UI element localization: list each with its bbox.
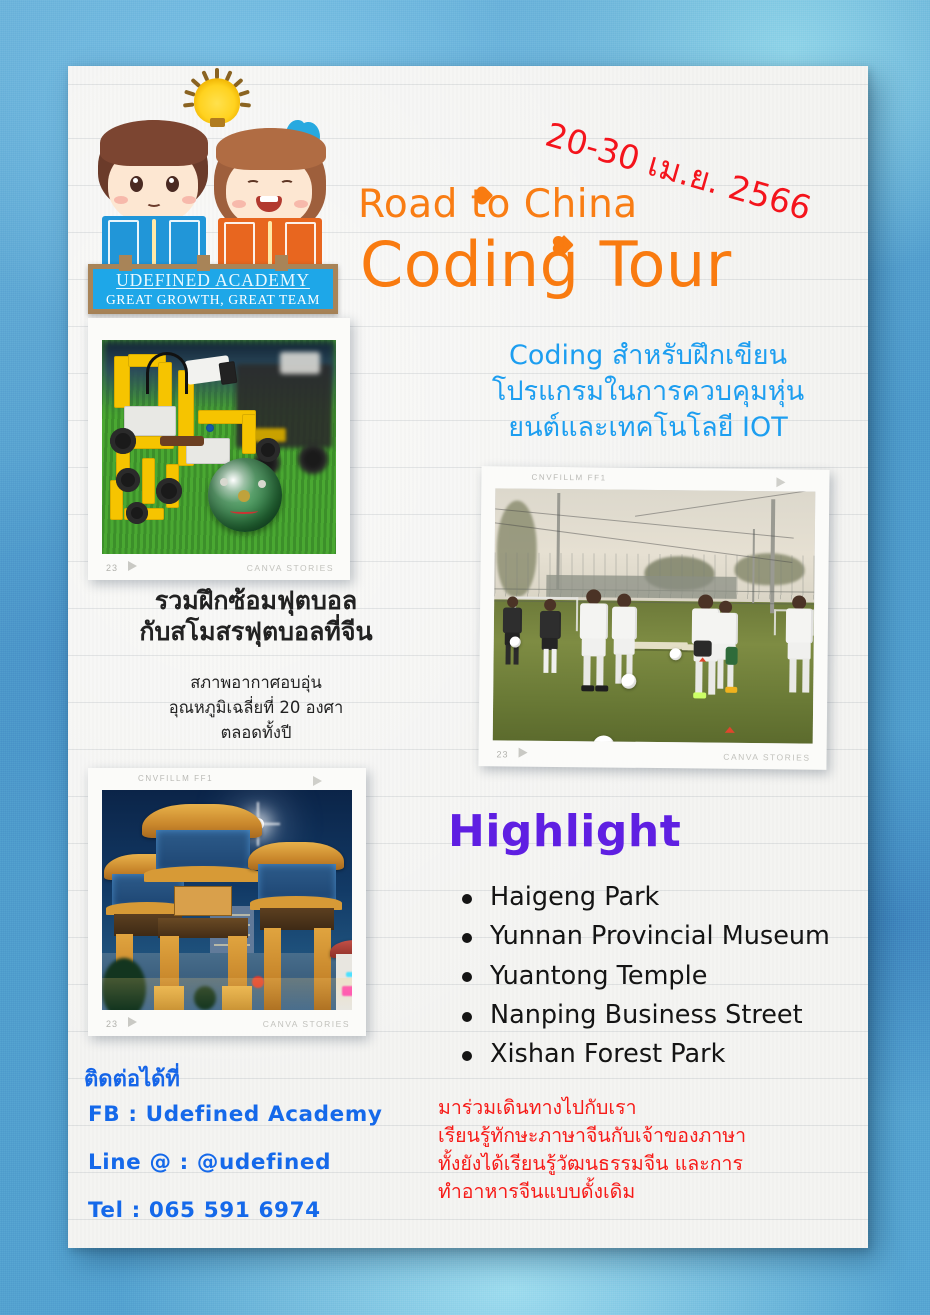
weather-line: อุณหภูมิเฉลี่ยที่ 20 องศา	[86, 696, 426, 721]
poster-canvas: UDEFINED ACADEMY GREAT GROWTH, GREAT TEA…	[0, 0, 930, 1315]
list-item: Yunnan Provincial Museum	[450, 917, 870, 956]
cta-block: มาร่วมเดินทางไปกับเรา เรียนรู้ทักษะภาษาจ…	[438, 1094, 848, 1206]
robot-ball-sensor	[208, 458, 282, 532]
highlight-heading: Highlight	[448, 806, 681, 857]
play-triangle-icon	[519, 748, 528, 758]
football-ball	[621, 674, 636, 689]
football-heading: รวมฝึกซ้อมฟุตบอล กับสโมสรฟุตบอลที่จีน	[86, 586, 426, 647]
weather-note: สภาพอากาศอบอุ่น อุณหภูมิเฉลี่ยที่ 20 องศ…	[86, 671, 426, 745]
list-item: Xishan Forest Park	[450, 1035, 870, 1074]
photo-brand-label: CANVA STORIES	[263, 1019, 350, 1029]
logo-title: UDEFINED ACADEMY	[116, 272, 310, 290]
photo-brand-label: CANVA STORIES	[247, 563, 334, 573]
list-item: Nanping Business Street	[450, 996, 870, 1035]
academy-logo-badge: UDEFINED ACADEMY GREAT GROWTH, GREAT TEA…	[88, 264, 338, 314]
weather-line: ตลอดทั้งปี	[86, 721, 426, 746]
photo-top-label: CNVFILLM FF1	[138, 774, 213, 783]
photo-image-temple	[102, 790, 352, 1010]
contact-facebook[interactable]: FB : Udefined Academy	[88, 1102, 382, 1127]
subtitle-line: ยนต์และเทคโนโลยี IOT	[448, 410, 848, 446]
subtitle-block: Coding สำหรับฝึกเขียน โปรแกรมในการควบคุม…	[448, 338, 848, 447]
photo-football-training: CNVFILLM FF1 23 CANVA STORIES	[478, 466, 829, 770]
football-heading-line: รวมฝึกซ้อมฟุตบอล	[86, 586, 426, 617]
football-heading-line: กับสโมสรฟุตบอลที่จีน	[86, 617, 426, 648]
contact-phone[interactable]: Tel : 065 591 6974	[88, 1198, 321, 1223]
cta-line: ทั้งยังได้เรียนรู้วัฒนธรรมจีน และการ	[438, 1150, 848, 1178]
cta-line: ทำอาหารจีนแบบดั้งเดิม	[438, 1178, 848, 1206]
training-cone	[725, 727, 735, 733]
paper-sheet: UDEFINED ACADEMY GREAT GROWTH, GREAT TEA…	[68, 66, 868, 1248]
logo-tagline: GREAT GROWTH, GREAT TEAM	[106, 293, 320, 307]
photo-top-label: CNVFILLM FF1	[531, 473, 606, 483]
contact-heading: ติดต่อได้ที่	[84, 1061, 180, 1096]
kicker-heading: Road to China	[358, 182, 638, 227]
page-title: Coding Tour	[360, 228, 732, 301]
photo-frame-number: 23	[497, 749, 509, 759]
photo-frame-number: 23	[106, 1019, 118, 1029]
photo-image-robots	[102, 340, 336, 554]
page-title-text: Coding Tour	[360, 228, 732, 301]
play-triangle-icon	[313, 776, 322, 786]
list-item: Yuantong Temple	[450, 957, 870, 996]
contact-line-id[interactable]: Line @ : @udefined	[88, 1150, 331, 1175]
play-triangle-icon	[776, 477, 785, 487]
list-item: Haigeng Park	[450, 878, 870, 917]
photo-image-football	[493, 488, 816, 743]
cta-line: เรียนรู้ทักษะภาษาจีนกับเจ้าของภาษา	[438, 1122, 848, 1150]
subtitle-line: Coding สำหรับฝึกเขียน	[448, 338, 848, 374]
photo-lego-robots: 23 CANVA STORIES	[88, 318, 350, 580]
photo-chinese-gate: CNVFILLM FF1 23 CANVA STORIES	[88, 768, 366, 1036]
play-triangle-icon	[128, 1017, 137, 1027]
photo-frame-number: 23	[106, 563, 118, 573]
subtitle-line: โปรแกรมในการควบคุมหุ่น	[448, 374, 848, 410]
football-ball	[670, 648, 682, 660]
photo-brand-label: CANVA STORIES	[723, 752, 810, 763]
training-cone	[699, 657, 706, 661]
play-triangle-icon	[128, 561, 137, 571]
weather-line: สภาพอากาศอบอุ่น	[86, 671, 426, 696]
cta-line: มาร่วมเดินทางไปกับเรา	[438, 1094, 848, 1122]
highlight-list: Haigeng Park Yunnan Provincial Museum Yu…	[450, 878, 870, 1074]
gate-plaque	[174, 886, 232, 916]
football-ball	[510, 636, 521, 647]
